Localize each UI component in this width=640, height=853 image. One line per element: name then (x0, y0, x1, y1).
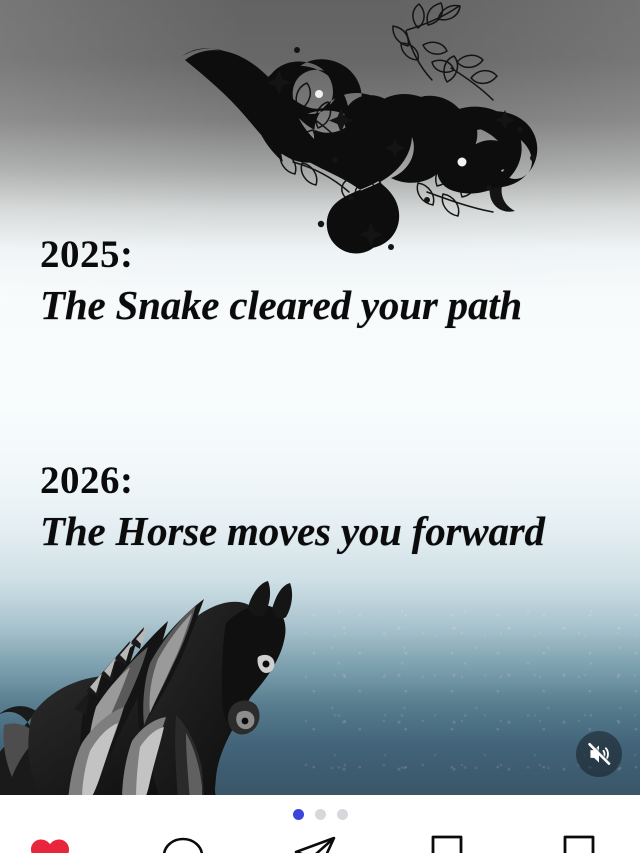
phrase-2026: The Horse moves you forward (40, 506, 640, 556)
post-screen: 2025: The Snake cleared your path 2026: … (0, 0, 640, 853)
year-label-2026: 2026: (40, 458, 640, 504)
speaker-muted-icon (586, 741, 612, 767)
mute-button[interactable] (576, 731, 622, 777)
carousel-pagination[interactable] (0, 795, 640, 833)
horse-illustration (0, 565, 410, 795)
post-action-bar (0, 833, 640, 853)
caption-2025: 2025: The Snake cleared your path (0, 232, 640, 330)
like-button[interactable] (27, 833, 73, 853)
pagination-dot-1[interactable] (293, 809, 304, 820)
share-button[interactable] (292, 833, 338, 853)
phrase-2025: The Snake cleared your path (40, 280, 640, 330)
save-button[interactable] (424, 833, 470, 853)
snake-illustration (175, 2, 575, 262)
pagination-dot-3[interactable] (337, 809, 348, 820)
post-media[interactable]: 2025: The Snake cleared your path 2026: … (0, 0, 640, 795)
caption-2026: 2026: The Horse moves you forward (0, 458, 640, 556)
year-label-2025: 2025: (40, 232, 640, 278)
comment-button[interactable] (160, 833, 206, 853)
more-button[interactable] (556, 833, 602, 853)
pagination-dot-2[interactable] (315, 809, 326, 820)
